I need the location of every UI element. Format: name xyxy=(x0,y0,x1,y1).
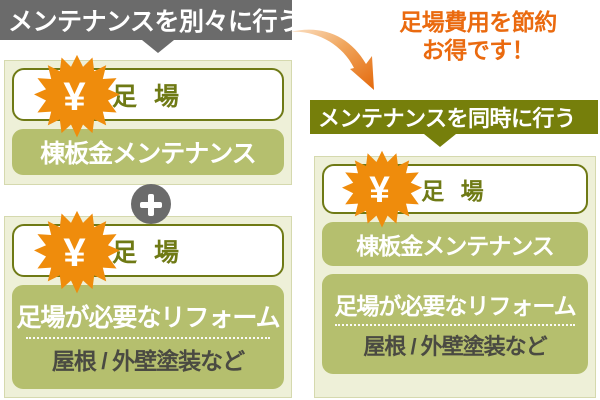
starburst-icon: ¥ xyxy=(342,150,422,230)
reform-item-label-secondary: 屋根 / 外壁塗装など xyxy=(52,342,244,376)
reform-item-box: 足場が必要なリフォーム 屋根 / 外壁塗装など xyxy=(12,285,284,389)
curved-arrow-icon xyxy=(288,12,384,96)
reform-item-label-primary: 足場が必要なリフォーム xyxy=(334,287,575,321)
right-banner-label: メンテナンスを同時に行う xyxy=(318,101,576,133)
scaffold-label: 足 場 xyxy=(112,77,184,113)
yen-symbol: ¥ xyxy=(63,75,90,120)
scaffold-label: 足 場 xyxy=(421,172,488,206)
headline-line-2: お得です！ xyxy=(360,36,596,64)
starburst-icon: ¥ xyxy=(34,210,120,296)
reform-item-label-secondary: 屋根 / 外壁塗装など xyxy=(363,329,546,361)
left-banner-pointer-icon xyxy=(142,40,174,53)
right-panel-combined: 足 場 ¥ 棟板金メンテナンス 足場が必要なリフォーム 屋根 / 外壁塗装など xyxy=(314,156,596,398)
yen-symbol: ¥ xyxy=(369,169,395,211)
left-banner-label: メンテナンスを別々に行う xyxy=(8,2,302,38)
maintenance-item-label: 棟板金メンテナンス xyxy=(40,134,256,170)
scaffold-box: 足 場 ¥ xyxy=(322,164,588,214)
plus-icon xyxy=(131,184,171,224)
dotted-divider xyxy=(26,337,271,339)
scaffold-label: 足 場 xyxy=(112,233,184,269)
maintenance-item-label: 棟板金メンテナンス xyxy=(356,227,554,261)
reform-item-label-primary: 足場が必要なリフォーム xyxy=(16,298,279,334)
left-panel-separate-item-2: 足 場 ¥ 足場が必要なリフォーム 屋根 / 外壁塗装など xyxy=(4,216,292,398)
maintenance-item-box: 棟板金メンテナンス xyxy=(322,222,588,266)
left-panel-separate-item-1: 足 場 ¥ 棟板金メンテナンス xyxy=(4,60,292,185)
headline-line-1: 足場費用を節約 xyxy=(360,8,596,36)
scaffold-box: 足 場 ¥ xyxy=(12,224,284,277)
right-banner-pointer-icon xyxy=(424,134,456,147)
savings-headline: 足場費用を節約 お得です！ xyxy=(360,8,596,64)
infographic-canvas: メンテナンスを別々に行う 足場費用を節約 お得です！ 足 場 ¥ xyxy=(0,0,600,400)
dotted-divider xyxy=(335,324,574,326)
starburst-icon: ¥ xyxy=(34,54,120,140)
left-banner: メンテナンスを別々に行う xyxy=(0,0,292,40)
yen-symbol: ¥ xyxy=(63,231,90,276)
reform-item-box: 足場が必要なリフォーム 屋根 / 外壁塗装など xyxy=(322,274,588,374)
scaffold-box: 足 場 ¥ xyxy=(12,68,284,121)
right-banner: メンテナンスを同時に行う xyxy=(310,100,598,134)
maintenance-item-box: 棟板金メンテナンス xyxy=(12,129,284,175)
